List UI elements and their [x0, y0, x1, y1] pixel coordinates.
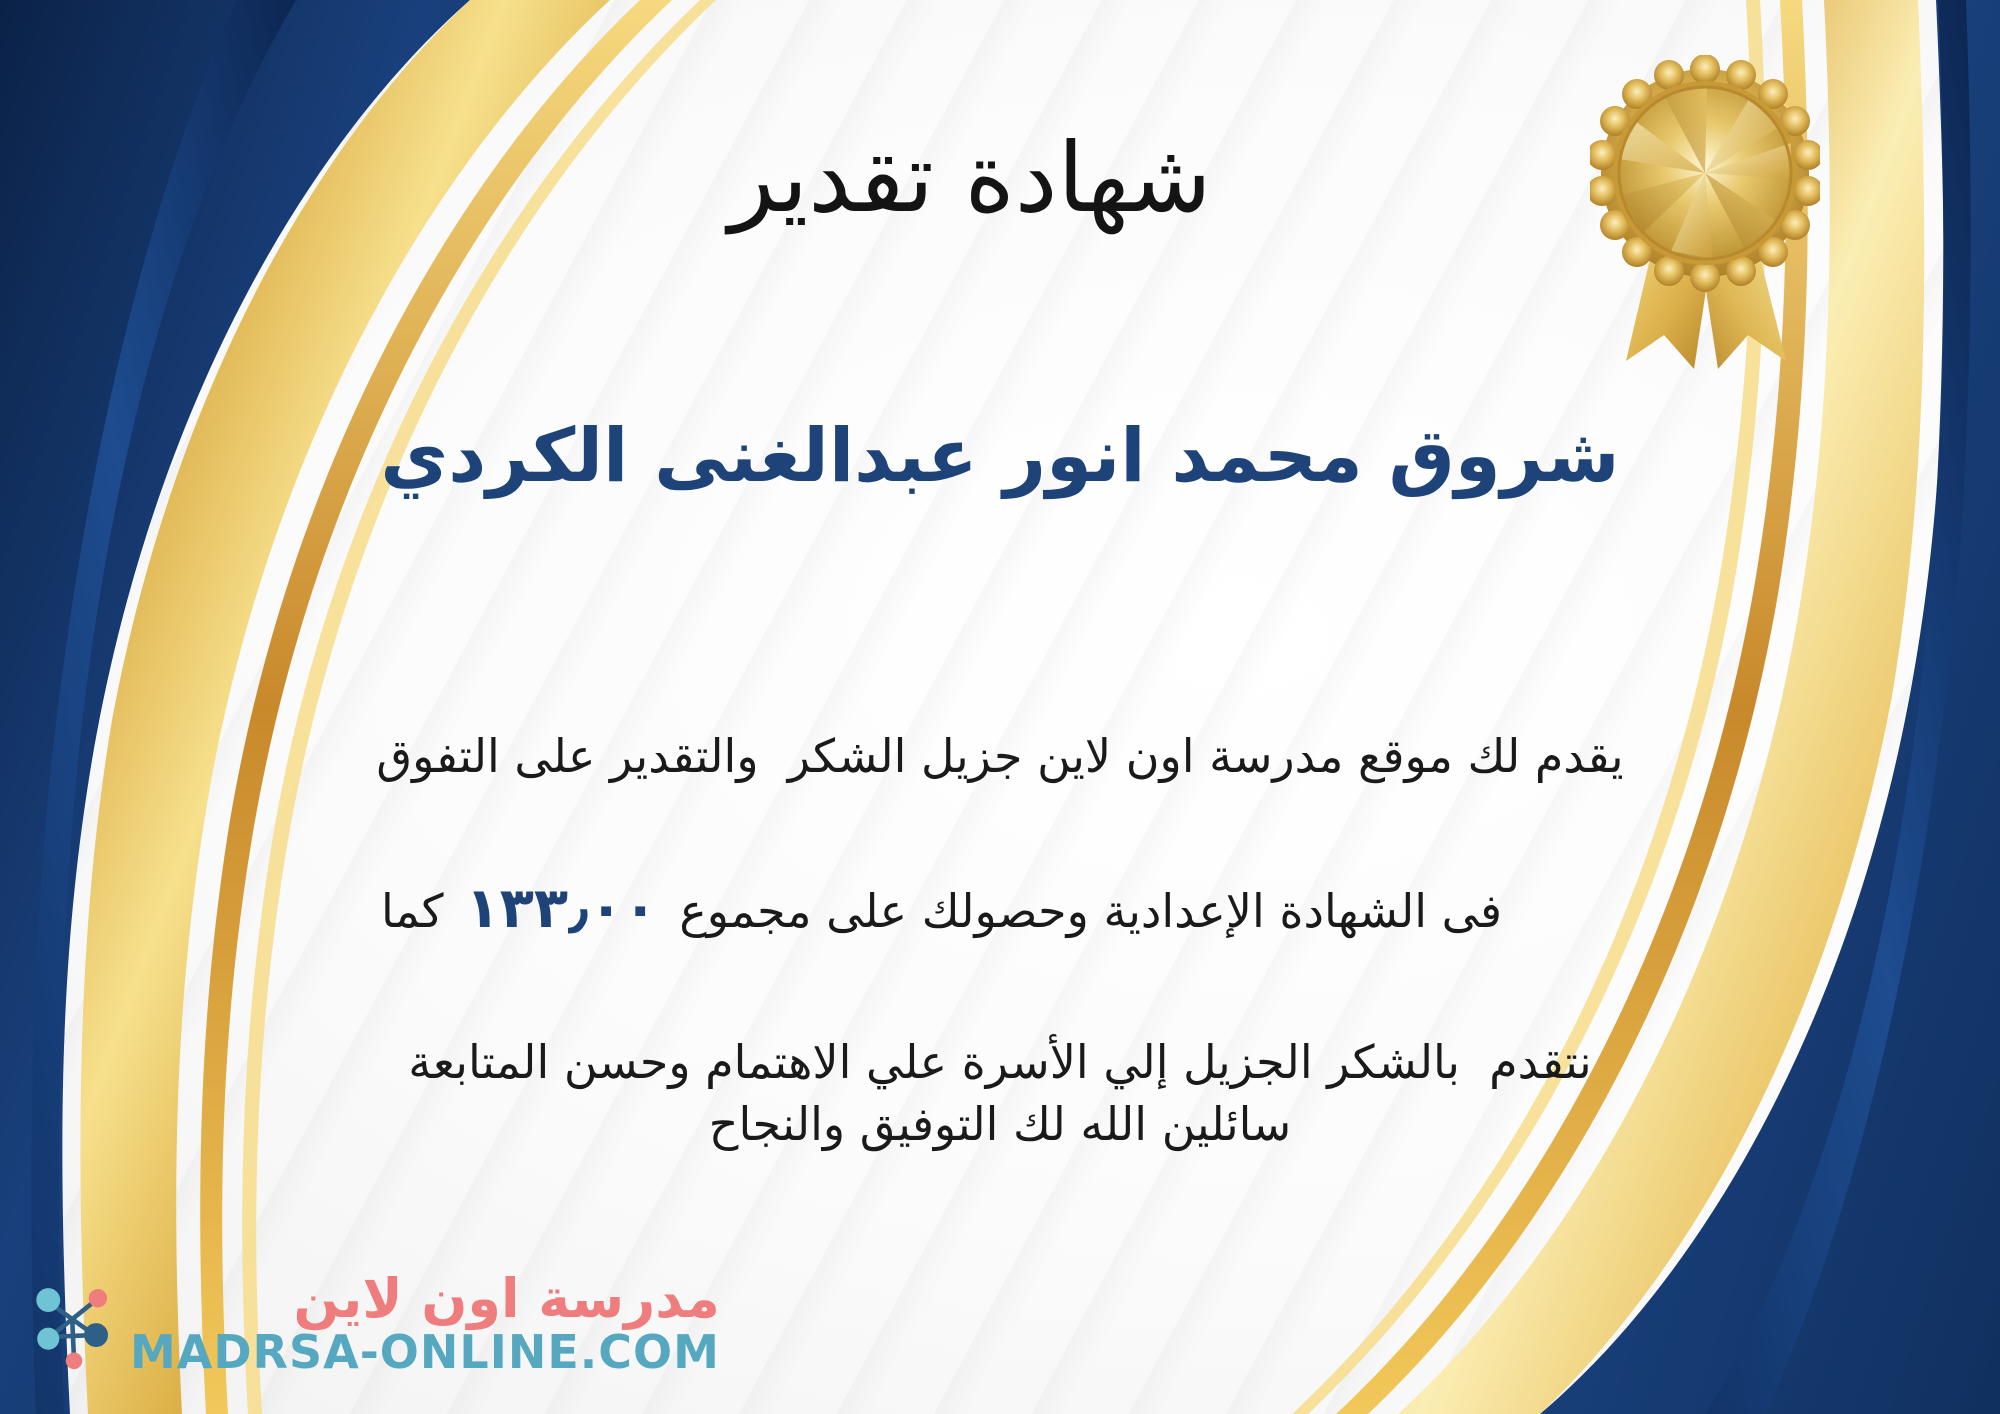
closing-wish-text: سائلين الله لك التوفيق والنجاح: [60, 1090, 1940, 1159]
certificate-canvas: شهادة تقدير شروق محمد انور عبدالغنى الكر…: [0, 0, 2000, 1414]
certificate-body: يقدم لك موقع مدرسة اون لاين جزيل الشكر و…: [60, 720, 1940, 1099]
body-line-2: فى الشهادة الإعدادية وحصولك على مجموع١٣٣…: [60, 793, 1940, 1027]
recipient-name: شروق محمد انور عبدالغنى الكردي: [110, 410, 1890, 503]
brand-website-url: MADRSA-ONLINE.COM: [130, 1327, 720, 1378]
brand-text: مدرسة اون لاين MADRSA-ONLINE.COM: [130, 1271, 720, 1378]
body-line-2-prefix: فى الشهادة الإعدادية وحصولك على مجموع: [679, 884, 1502, 938]
body-line-2-suffix: كما: [381, 884, 444, 938]
brand-arabic-name: مدرسة اون لاين: [293, 1271, 719, 1328]
brand-logo[interactable]: مدرسة اون لاين MADRSA-ONLINE.COM: [28, 1271, 720, 1378]
body-line-3: نتقدم بالشكر الجزيل إلي الأسرة علي الاهت…: [60, 1026, 1940, 1099]
gold-award-medal-icon: [1590, 55, 1820, 385]
total-score-value: ١٣٣٫٠٠: [444, 876, 680, 941]
network-nodes-logo-icon: [28, 1278, 120, 1370]
body-line-1: يقدم لك موقع مدرسة اون لاين جزيل الشكر و…: [60, 720, 1940, 793]
